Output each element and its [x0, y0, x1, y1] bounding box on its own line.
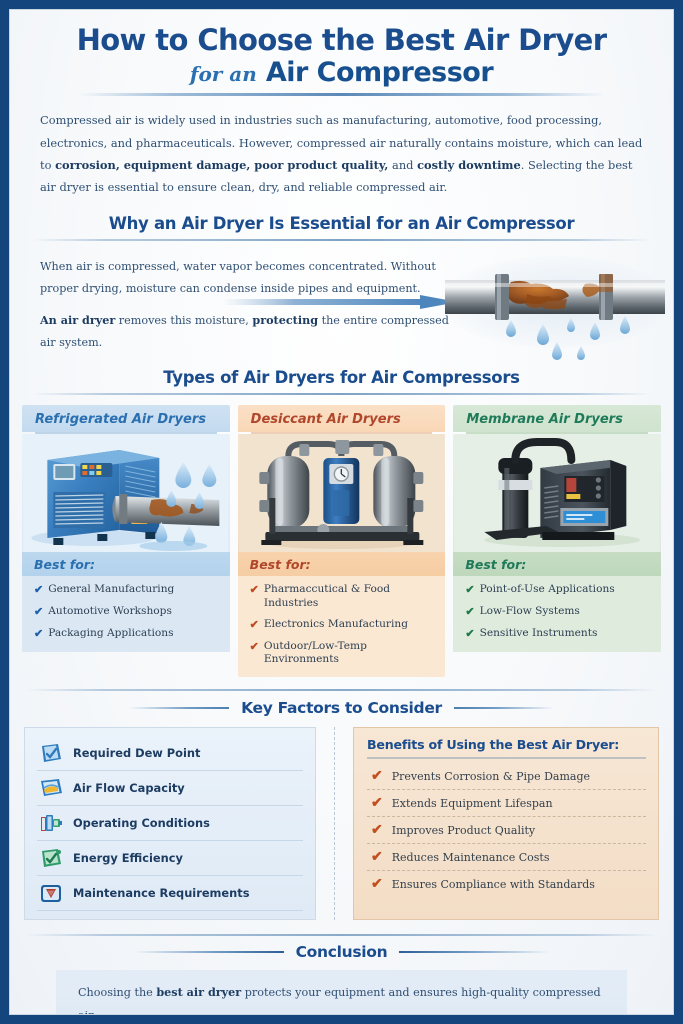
energy-efficiency-icon — [39, 847, 63, 869]
check-icon: ✔ — [371, 796, 383, 810]
key-factors-section: Key Factors to Consider Required Dew Poi… — [10, 689, 673, 920]
membrane-dryer-image — [453, 434, 661, 552]
conclusion-box: Choosing the best air dryer protects you… — [56, 970, 627, 1015]
refrigerated-dryer-image — [22, 434, 230, 552]
card-title: Desiccant Air Dryers — [238, 405, 446, 432]
best-for-label: Best for: — [22, 552, 230, 576]
check-icon: ✔ — [34, 605, 43, 619]
card-membrane-air-dryers[interactable]: Membrane Air Dryers — [453, 405, 661, 677]
conclusion-l1-bold: best air dryer — [156, 985, 241, 999]
benefit-label: Extends Equipment Lifespan — [392, 797, 553, 810]
desiccant-dryer-image — [238, 434, 446, 552]
list-item: ✔ Point-of-Use Applications — [465, 583, 651, 597]
title-main-line: How to Choose the Best Air Dryer — [36, 24, 647, 56]
benefit-label: Ensures Compliance with Standards — [392, 878, 595, 891]
infographic-poster: How to Choose the Best Air Dryer for an … — [9, 9, 674, 1015]
check-icon: ✔ — [465, 605, 474, 619]
intro-paragraph: Compressed air is widely used in industr… — [40, 109, 643, 198]
why-heading-divider — [32, 239, 651, 241]
list-item: ✔ General Manufacturing — [34, 583, 220, 597]
flow-arrow-icon — [222, 295, 458, 309]
list-item-label: Packaging Applications — [48, 627, 173, 640]
list-item-label: General Manufacturing — [48, 583, 174, 596]
conclusion-l1-a: Choosing the — [78, 986, 156, 999]
check-icon: ✔ — [371, 850, 383, 864]
key-factor-label: Air Flow Capacity — [73, 781, 185, 795]
why-section: Why an Air Dryer Is Essential for an Air… — [10, 214, 673, 362]
conclusion-section: Conclusion Choosing the best air dryer p… — [10, 934, 673, 1015]
rusty-pipe-illustration — [439, 246, 671, 366]
list-item-label: Pharmaccutical & Food Industries — [264, 583, 435, 609]
why-paragraph-2: An air dryer removes this moisture, prot… — [40, 310, 460, 354]
types-heading: Types of Air Dryers for Air Compressors — [10, 368, 673, 387]
list-item-label: Automotive Workshops — [48, 605, 172, 618]
key-factors-columns: Required Dew Point Air Flow Capacity — [24, 727, 659, 920]
key-factor-label: Maintenance Requirements — [73, 886, 250, 900]
key-factors-heading-row: Key Factors to Consider — [10, 699, 673, 717]
list-item-label: Electronics Manufacturing — [264, 618, 408, 631]
list-item: ✔ Outdoor/Low-Temp Environments — [250, 640, 436, 666]
check-icon: ✔ — [371, 769, 383, 783]
list-item: ✔ Packaging Applications — [34, 627, 220, 641]
why-heading: Why an Air Dryer Is Essential for an Air… — [10, 214, 673, 233]
refrigerated-dryer-illustration — [22, 434, 230, 552]
benefit-item: ✔ Extends Equipment Lifespan — [367, 790, 646, 817]
intro-bold-2: costly downtime — [417, 158, 521, 172]
benefits-panel: Benefits of Using the Best Air Dryer: ✔ … — [353, 727, 659, 920]
card-title: Membrane Air Dryers — [453, 405, 661, 432]
list-item: ✔ Sensitive Instruments — [465, 627, 651, 641]
best-for-label: Best for: — [238, 552, 446, 576]
why-p2-bold-2: protecting — [252, 313, 318, 327]
best-for-list: ✔ Pharmaccutical & Food Industries ✔ Ele… — [238, 576, 446, 677]
dryer-type-cards: Refrigerated Air Dryers — [22, 405, 661, 677]
conclusion-top-divider — [26, 934, 657, 936]
check-icon: ✔ — [34, 583, 43, 597]
maintenance-icon — [39, 882, 63, 904]
benefit-item: ✔ Improves Product Quality — [367, 817, 646, 844]
key-factor-item[interactable]: Maintenance Requirements — [37, 876, 303, 911]
card-refrigerated-air-dryers[interactable]: Refrigerated Air Dryers — [22, 405, 230, 677]
heading-dash-right — [399, 951, 549, 953]
benefits-title-rule — [367, 757, 646, 759]
best-for-label: Best for: — [453, 552, 661, 576]
dew-point-icon — [39, 742, 63, 764]
key-factor-item[interactable]: Energy Efficiency — [37, 841, 303, 876]
best-for-list: ✔ General Manufacturing ✔ Automotive Wor… — [22, 576, 230, 651]
list-item-label: Low-Flow Systems — [480, 605, 580, 618]
types-heading-divider — [32, 393, 651, 395]
heading-dash-right — [454, 707, 554, 709]
types-section: Types of Air Dryers for Air Compressors … — [10, 368, 673, 677]
key-factor-label: Required Dew Point — [73, 746, 200, 760]
benefit-label: Prevents Corrosion & Pipe Damage — [392, 770, 590, 783]
list-item: ✔ Pharmaccutical & Food Industries — [250, 583, 436, 609]
check-icon: ✔ — [371, 823, 383, 837]
title-second-line: for an Air Compressor — [36, 57, 647, 88]
list-item: ✔ Low-Flow Systems — [465, 605, 651, 619]
check-icon: ✔ — [34, 627, 43, 641]
why-p2-bold-1: An air dryer — [40, 313, 115, 327]
operating-conditions-icon — [39, 812, 63, 834]
why-body: When air is compressed, water vapor beco… — [10, 250, 673, 362]
intro-bold-1: corrosion, equipment damage, poor produc… — [55, 158, 388, 172]
check-icon: ✔ — [371, 877, 383, 891]
benefit-item: ✔ Prevents Corrosion & Pipe Damage — [367, 763, 646, 790]
best-for-list: ✔ Point-of-Use Applications ✔ Low-Flow S… — [453, 576, 661, 651]
conclusion-line-1: Choosing the best air dryer protects you… — [78, 981, 609, 1015]
conclusion-heading-row: Conclusion — [10, 943, 673, 961]
list-item: ✔ Automotive Workshops — [34, 605, 220, 619]
key-factor-label: Operating Conditions — [73, 816, 210, 830]
desiccant-dryer-illustration — [238, 434, 446, 552]
heading-dash-left — [134, 951, 284, 953]
title-for-an: for an — [190, 62, 257, 86]
why-paragraph-1: When air is compressed, water vapor beco… — [40, 256, 460, 300]
key-factors-list: Required Dew Point Air Flow Capacity — [24, 727, 316, 920]
list-item-label: Sensitive Instruments — [480, 627, 598, 640]
check-icon: ✔ — [250, 618, 259, 632]
key-factor-item[interactable]: Required Dew Point — [37, 736, 303, 771]
key-factor-item[interactable]: Operating Conditions — [37, 806, 303, 841]
key-factors-divider — [334, 727, 335, 920]
benefits-title: Benefits of Using the Best Air Dryer: — [367, 737, 646, 752]
check-icon: ✔ — [465, 627, 474, 641]
conclusion-heading: Conclusion — [296, 943, 388, 961]
list-item-label: Point-of-Use Applications — [480, 583, 615, 596]
card-desiccant-air-dryers[interactable]: Desiccant Air Dryers — [238, 405, 446, 677]
benefit-item: ✔ Ensures Compliance with Standards — [367, 871, 646, 897]
card-title: Refrigerated Air Dryers — [22, 405, 230, 432]
key-factor-label: Energy Efficiency — [73, 851, 183, 865]
check-icon: ✔ — [250, 583, 259, 597]
check-icon: ✔ — [465, 583, 474, 597]
benefit-label: Improves Product Quality — [392, 824, 535, 837]
membrane-dryer-illustration — [453, 434, 661, 552]
air-flow-icon — [39, 777, 63, 799]
key-factor-item[interactable]: Air Flow Capacity — [37, 771, 303, 806]
page-title: How to Choose the Best Air Dryer for an … — [10, 10, 673, 96]
title-divider — [79, 93, 604, 96]
key-factors-heading: Key Factors to Consider — [241, 699, 442, 717]
title-subject: Air Compressor — [266, 57, 493, 88]
why-p2-mid: removes this moisture, — [115, 314, 252, 327]
heading-dash-left — [129, 707, 229, 709]
list-item: ✔ Electronics Manufacturing — [250, 618, 436, 632]
intro-text-2: and — [388, 158, 417, 172]
benefit-item: ✔ Reduces Maintenance Costs — [367, 844, 646, 871]
list-item-label: Outdoor/Low-Temp Environments — [264, 640, 435, 666]
key-factors-top-divider — [26, 689, 657, 691]
check-icon: ✔ — [250, 640, 259, 654]
benefit-label: Reduces Maintenance Costs — [392, 851, 550, 864]
